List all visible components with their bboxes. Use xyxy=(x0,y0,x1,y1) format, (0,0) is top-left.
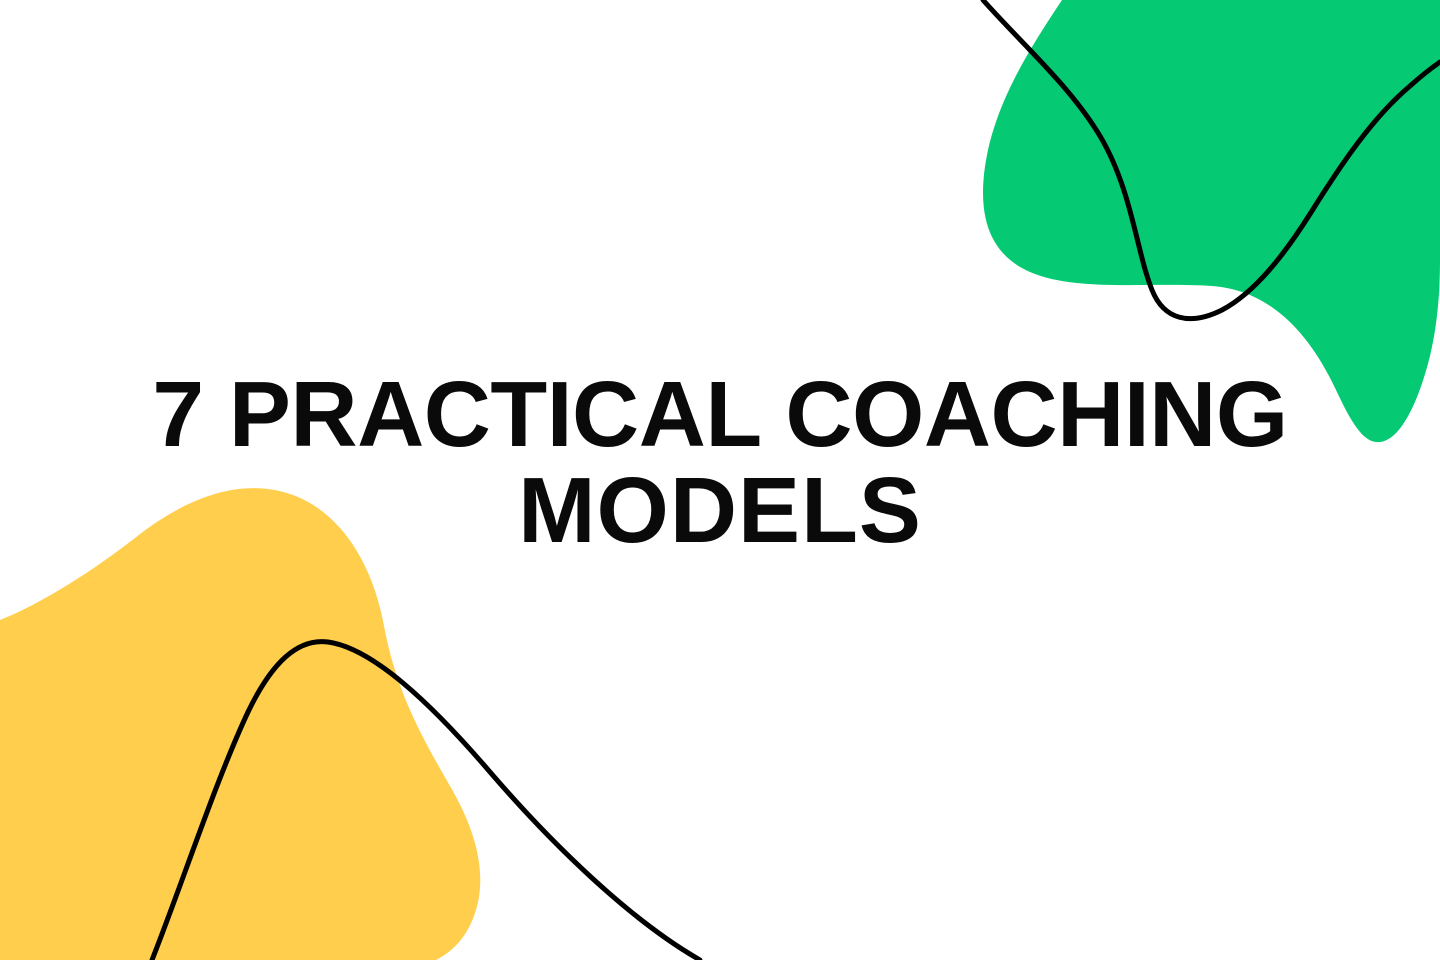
page-title: 7 PRACTICAL COACHING MODELS xyxy=(0,366,1440,558)
page-title-line-2: MODELS xyxy=(0,462,1440,558)
poster-canvas: 7 PRACTICAL COACHING MODELS xyxy=(0,0,1440,960)
page-title-line-1: 7 PRACTICAL COACHING xyxy=(0,366,1440,462)
yellow-blob-icon xyxy=(0,488,480,960)
black-curve-top-right-icon xyxy=(983,0,1440,319)
black-curve-bottom-left-icon xyxy=(152,642,700,960)
